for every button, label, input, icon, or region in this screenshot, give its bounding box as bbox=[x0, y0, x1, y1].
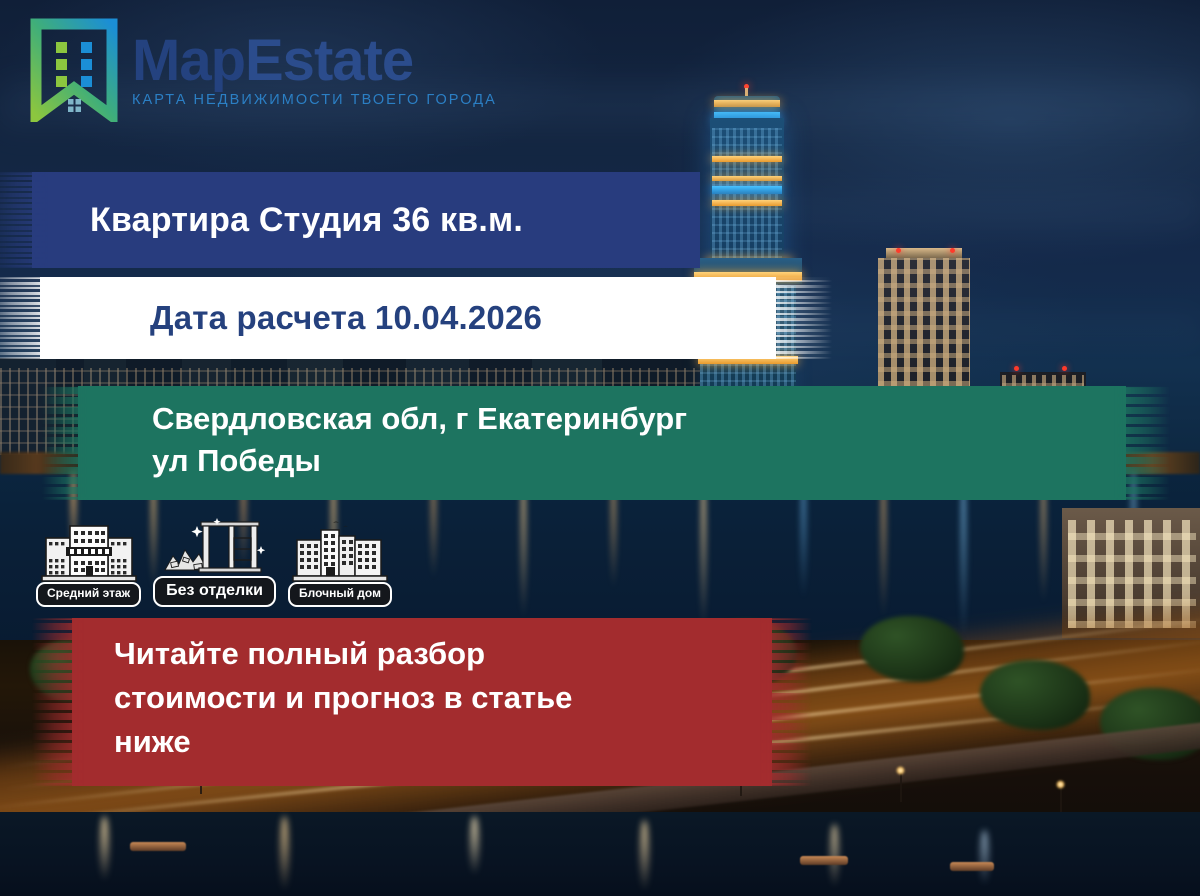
feature-block-house[interactable]: Блочный дом bbox=[288, 518, 392, 606]
brand-name-map: Map bbox=[132, 28, 245, 93]
apartment-building-middle-floor-icon bbox=[40, 518, 138, 584]
tower-light-band bbox=[714, 100, 780, 107]
water-reflection bbox=[100, 816, 109, 882]
aviation-warning-light bbox=[950, 248, 955, 253]
feature-label-block-house: Блочный дом bbox=[288, 582, 392, 606]
water-reflection bbox=[640, 820, 649, 892]
pleasure-boat bbox=[950, 862, 994, 871]
cta-banner[interactable]: Читайте полный разбор стоимости и прогно… bbox=[72, 618, 772, 786]
pleasure-boat bbox=[130, 842, 186, 851]
property-address-banner: Свердловская обл, г Екатеринбург ул Побе… bbox=[78, 386, 1126, 500]
block-panel-house-icon bbox=[291, 518, 389, 584]
cta-line-3: ниже bbox=[114, 720, 572, 764]
property-title: Квартира Студия 36 кв.м. bbox=[90, 201, 523, 240]
promo-card: MapEstate КАРТА НЕДВИЖИМОСТИ ТВОЕГО ГОРО… bbox=[0, 0, 1200, 896]
pleasure-boat bbox=[800, 856, 848, 865]
aviation-warning-light bbox=[1014, 366, 1019, 371]
property-feature-badges: Средний этаж bbox=[36, 512, 392, 607]
water-reflection bbox=[980, 830, 989, 886]
water-reflection bbox=[470, 816, 479, 876]
feature-label-middle-floor: Средний этаж bbox=[36, 582, 141, 606]
aviation-warning-light bbox=[896, 248, 901, 253]
tower-light-band bbox=[712, 186, 782, 194]
aviation-warning-light bbox=[1062, 366, 1067, 371]
tower-light-band bbox=[712, 156, 782, 162]
calculation-date-banner: Дата расчета 10.04.2026 bbox=[40, 277, 776, 359]
property-address: Свердловская обл, г Екатеринбург ул Побе… bbox=[152, 398, 687, 482]
tower-light-band bbox=[712, 200, 782, 206]
tower-light-band bbox=[712, 176, 782, 181]
brand-tagline: КАРТА НЕДВИЖИМОСТИ ТВОЕГО ГОРОДА bbox=[132, 92, 497, 108]
brand-wordmark: MapEstate КАРТА НЕДВИЖИМОСТИ ТВОЕГО ГОРО… bbox=[132, 32, 497, 108]
property-title-banner: Квартира Студия 36 кв.м. bbox=[32, 172, 700, 268]
feature-middle-floor[interactable]: Средний этаж bbox=[36, 518, 141, 606]
feature-no-finishing[interactable]: Без отделки bbox=[153, 512, 276, 607]
street-lamp bbox=[896, 766, 905, 775]
street-lamp bbox=[1056, 780, 1065, 789]
address-line-1: Свердловская обл, г Екатеринбург bbox=[152, 398, 687, 440]
cta-line-2: стоимости и прогноз в статье bbox=[114, 676, 572, 720]
cta-line-1: Читайте полный разбор bbox=[114, 632, 572, 676]
foreground-water bbox=[0, 812, 1200, 896]
calculation-date: Дата расчета 10.04.2026 bbox=[150, 299, 542, 337]
cta-text: Читайте полный разбор стоимости и прогно… bbox=[114, 632, 572, 764]
feature-label-no-finishing: Без отделки bbox=[153, 576, 276, 607]
address-line-2: ул Победы bbox=[152, 440, 687, 482]
unfinished-interior-icon bbox=[161, 512, 269, 578]
brand-name-estate: Estate bbox=[245, 28, 413, 93]
water-reflection bbox=[280, 816, 289, 892]
brand-logo[interactable]: MapEstate КАРТА НЕДВИЖИМОСТИ ТВОЕГО ГОРО… bbox=[30, 18, 497, 122]
bookmark-building-icon bbox=[30, 18, 118, 122]
brand-name: MapEstate bbox=[132, 32, 497, 90]
street-lamp-post bbox=[900, 772, 902, 802]
